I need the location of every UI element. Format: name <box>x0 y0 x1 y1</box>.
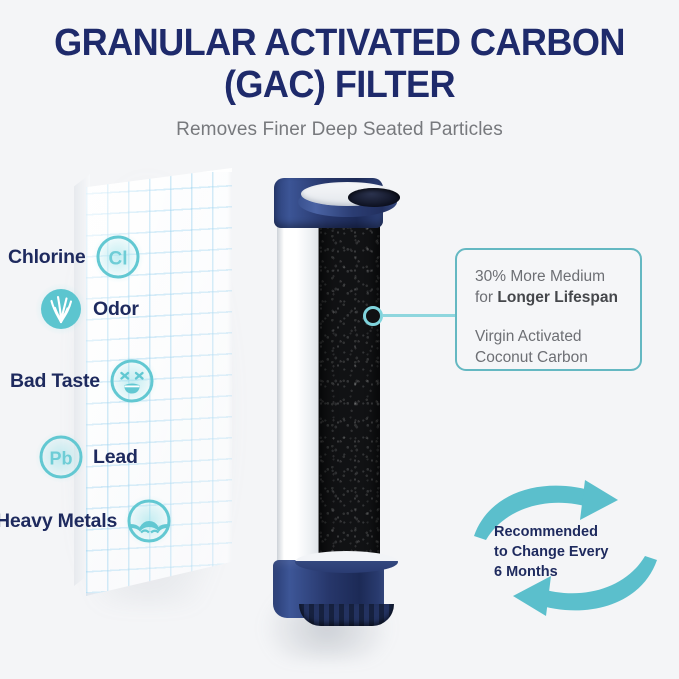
callout-anchor-marker <box>363 306 383 326</box>
callout-line-2-prefix: for <box>475 289 497 306</box>
change-interval-badge: Recommended to Change Every 6 Months <box>468 478 663 618</box>
feature-chlorine: Chlorine Cl <box>8 234 141 280</box>
header: GRANULAR ACTIVATED CARBON (GAC) FILTER R… <box>0 0 679 141</box>
cartridge-body <box>277 212 380 582</box>
callout-line-1: 30% More Medium <box>475 266 640 287</box>
page-title-line-1: GRANULAR ACTIVATED CARBON <box>54 22 625 64</box>
callout-line-2: for Longer Lifespan <box>475 287 640 308</box>
cartridge-bottom-cap <box>273 560 384 618</box>
filter-cartridge-image <box>255 160 400 660</box>
callout-line-3: Virgin Activated <box>475 326 640 347</box>
page-subtitle: Removes Finer Deep Seated Particles <box>0 119 679 141</box>
chlorine-cl-icon: Cl <box>95 234 141 280</box>
page-title: GRANULAR ACTIVATED CARBON (GAC) FILTER <box>17 22 662 106</box>
lead-pb-icon: Pb <box>38 434 84 480</box>
carbon-media-cutaway <box>319 212 380 582</box>
chlorine-symbol-text: Cl <box>108 249 127 270</box>
feature-bad-taste: Bad Taste <box>10 358 155 404</box>
feature-label-lead: Lead <box>93 446 138 469</box>
badge-line-2: to Change Every <box>494 542 644 562</box>
bottom-cap-ridged-edge <box>299 604 394 626</box>
marker-ring <box>363 306 383 326</box>
bottom-cap-upper-rim <box>295 551 398 573</box>
lead-symbol-text: Pb <box>49 449 72 469</box>
callout-box: 30% More Medium for Longer Lifespan Virg… <box>455 248 642 371</box>
page-title-line-2: (GAC) FILTER <box>17 64 662 106</box>
callout-connector-line <box>382 314 457 317</box>
feature-heavy-metals: Heavy Metals <box>0 498 172 544</box>
badge-line-1: Recommended <box>494 522 644 542</box>
odor-flame-icon <box>38 286 84 332</box>
heavy-metals-icon <box>126 498 172 544</box>
feature-label-heavy-metals: Heavy Metals <box>0 510 117 533</box>
feature-label-odor: Odor <box>93 298 139 321</box>
feature-lead: Pb Lead <box>38 434 138 480</box>
callout-line-2-bold: Longer Lifespan <box>497 289 618 306</box>
top-cap-collar <box>301 182 394 206</box>
feature-label-chlorine: Chlorine <box>8 246 86 269</box>
bad-taste-face-icon <box>109 358 155 404</box>
top-cap-port-hole <box>348 188 400 207</box>
feature-odor: Odor <box>38 286 139 332</box>
callout-line-4: Coconut Carbon <box>475 347 640 368</box>
cartridge-top-cap <box>274 178 383 228</box>
change-interval-text: Recommended to Change Every 6 Months <box>494 522 644 582</box>
badge-line-3: 6 Months <box>494 562 644 582</box>
feature-label-bad-taste: Bad Taste <box>10 370 100 393</box>
